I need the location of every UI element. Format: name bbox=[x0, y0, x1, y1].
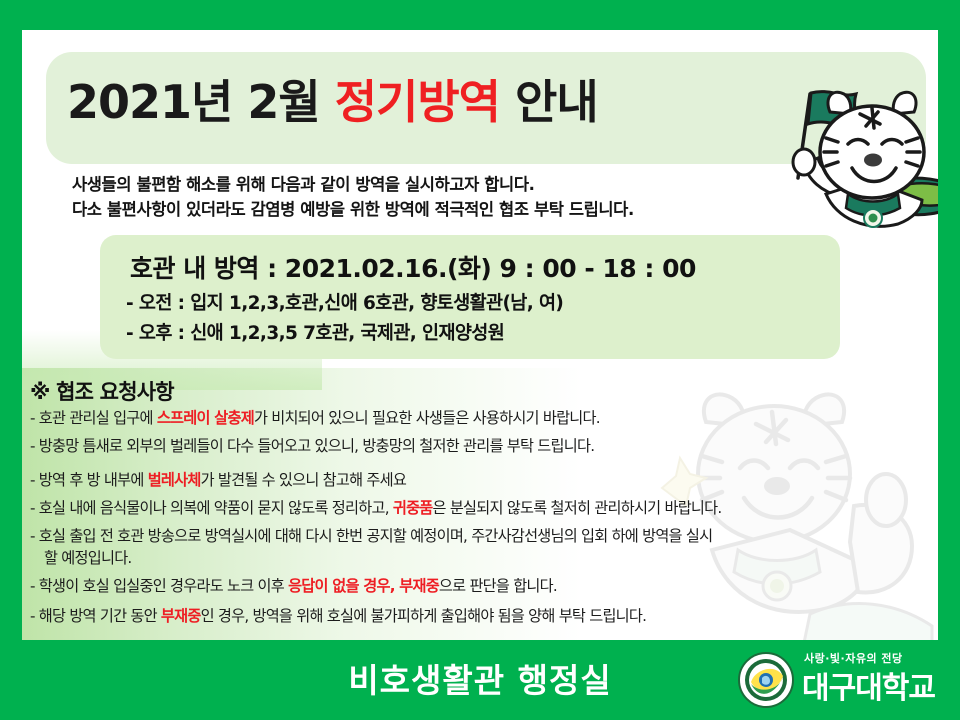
poster-sheet: 2021년 2월 정기방역 안내 사생들의 불편함 해소를 위해 다음과 같이 … bbox=[22, 30, 938, 640]
note-text-highlight: 벌레사체 bbox=[148, 471, 201, 489]
schedule-box: 호관 내 방역 : 2021.02.16.(화) 9 : 00 - 18 : 0… bbox=[100, 235, 840, 359]
note-text-highlight: 부재중 bbox=[161, 607, 201, 625]
note-item-continuation: 할 예정입니다. bbox=[44, 548, 132, 569]
note-text-pre: - 방충망 틈새로 외부의 벌레들이 다수 들어오고 있으니, 방충망의 철저한… bbox=[30, 437, 594, 455]
note-text-pre: - 호실 내에 음식물이나 의복에 약품이 묻지 않도록 정리하고, bbox=[30, 499, 393, 517]
note-item: - 호실 출입 전 호관 방송으로 방역실시에 대해 다시 한번 공지할 예정이… bbox=[30, 526, 712, 547]
note-item: - 호실 내에 음식물이나 의복에 약품이 묻지 않도록 정리하고, 귀중품은 … bbox=[30, 498, 721, 519]
title-highlight: 정기방역 bbox=[335, 75, 500, 129]
note-text-post: 인 경우, 방역을 위해 호실에 불가피하게 출입해야 됨을 양해 부탁 드립니… bbox=[201, 607, 647, 625]
poster-root: 2021년 2월 정기방역 안내 사생들의 불편함 해소를 위해 다음과 같이 … bbox=[0, 0, 960, 720]
note-text-pre: - 해당 방역 기간 동안 bbox=[30, 607, 161, 625]
notes-heading: ※ 협조 요청사항 bbox=[30, 376, 174, 406]
schedule-heading: 호관 내 방역 : 2021.02.16.(화) 9 : 00 - 18 : 0… bbox=[130, 249, 696, 285]
note-text-highlight: 귀중품 bbox=[393, 499, 433, 517]
title-part1: 2021년 2월 bbox=[67, 75, 335, 129]
note-text-pre: 할 예정입니다. bbox=[44, 549, 132, 567]
logo-university-name: 대구대학교 bbox=[802, 663, 935, 707]
note-text-post: 으로 판단을 합니다. bbox=[439, 577, 557, 595]
note-text-highlight: 응답이 없을 경우, 부재중 bbox=[288, 577, 439, 595]
university-logo: 사랑·빛·자유의 전당 대구대학교 bbox=[736, 648, 946, 712]
intro-line-1: 사생들의 불편함 해소를 위해 다음과 같이 방역을 실시하고자 합니다. bbox=[72, 172, 772, 197]
note-text-post: 가 비치되어 있으니 필요한 사생들은 사용하시기 바랍니다. bbox=[254, 409, 600, 427]
intro-line-2: 다소 불편사항이 있더라도 감염병 예방을 위한 방역에 적극적인 협조 부탁 … bbox=[72, 197, 772, 222]
note-text-highlight: 스프레이 살충제 bbox=[157, 409, 254, 427]
tiger-mascot-icon bbox=[774, 68, 938, 236]
intro-paragraph: 사생들의 불편함 해소를 위해 다음과 같이 방역을 실시하고자 합니다. 다소… bbox=[72, 172, 772, 222]
note-item: - 해당 방역 기간 동안 부재중인 경우, 방역을 위해 호실에 불가피하게 … bbox=[30, 606, 646, 627]
note-text-post: 가 발견될 수 있으니 참고해 주세요 bbox=[201, 471, 407, 489]
note-item: - 호관 관리실 입구에 스프레이 살충제가 비치되어 있으니 필요한 사생들은… bbox=[30, 408, 600, 429]
note-text-pre: - 호관 관리실 입구에 bbox=[30, 409, 157, 427]
footer-bar: 비호생활관 행정실 사랑·빛·자유의 전당 대구대학교 bbox=[0, 640, 960, 720]
university-emblem-icon bbox=[738, 652, 794, 708]
note-text-post: 은 분실되지 않도록 철저히 관리하시기 바랍니다. bbox=[433, 499, 722, 517]
note-text-pre: - 호실 출입 전 호관 방송으로 방역실시에 대해 다시 한번 공지할 예정이… bbox=[30, 527, 712, 545]
title-part2: 안내 bbox=[500, 75, 598, 129]
schedule-morning-line: - 오전 : 입지 1,2,3,호관,신애 6호관, 향토생활관(남, 여) bbox=[126, 289, 563, 315]
note-item: - 방역 후 방 내부에 벌레사체가 발견될 수 있으니 참고해 주세요 bbox=[30, 470, 406, 491]
page-title: 2021년 2월 정기방역 안내 bbox=[67, 66, 598, 132]
note-item: - 학생이 호실 입실중인 경우라도 노크 이후 응답이 없을 경우, 부재중으… bbox=[30, 576, 557, 597]
note-item: - 방충망 틈새로 외부의 벌레들이 다수 들어오고 있으니, 방충망의 철저한… bbox=[30, 436, 594, 457]
schedule-afternoon-line: - 오후 : 신애 1,2,3,5 7호관, 국제관, 인재양성원 bbox=[126, 319, 504, 345]
note-text-pre: - 학생이 호실 입실중인 경우라도 노크 이후 bbox=[30, 577, 288, 595]
note-text-pre: - 방역 후 방 내부에 bbox=[30, 471, 148, 489]
